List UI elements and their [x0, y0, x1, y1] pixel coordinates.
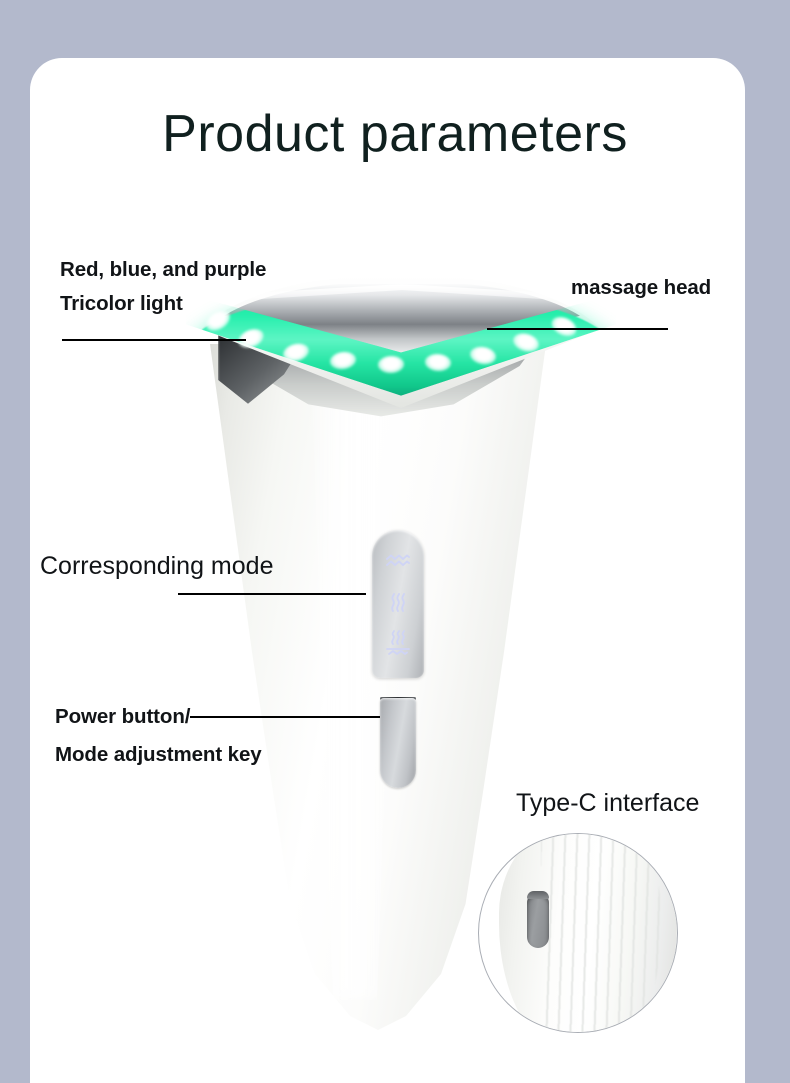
callout-power-line2: Mode adjustment key: [55, 743, 262, 767]
callout-tricolor-line1: Red, blue, and purple: [60, 258, 266, 282]
callout-tricolor-line2: Tricolor light: [60, 292, 183, 316]
type-c-port: [527, 892, 549, 948]
callout-corresponding-mode: Corresponding mode: [40, 552, 273, 581]
mode-panel[interactable]: [372, 530, 424, 678]
callout-power-line1: Power button/: [55, 705, 190, 729]
leader-line-mode: [178, 593, 366, 595]
infographic-canvas: Product parameters: [0, 0, 790, 1083]
heat-plus-vibration-icon: [372, 630, 424, 658]
callout-type-c-interface: Type-C interface: [516, 789, 699, 818]
type-c-port-opening: [527, 891, 549, 899]
detail-device-ribs: [541, 833, 661, 1033]
power-button[interactable]: [380, 698, 416, 788]
type-c-detail-circle: [478, 833, 678, 1033]
leader-line-tricolor: [62, 339, 246, 341]
leader-line-power: [190, 716, 380, 718]
heat-wave-icon: [372, 592, 424, 614]
vibration-wave-icon: [372, 552, 424, 572]
callout-massage-head: massage head: [571, 276, 711, 300]
leader-line-massage-head: [487, 328, 668, 330]
